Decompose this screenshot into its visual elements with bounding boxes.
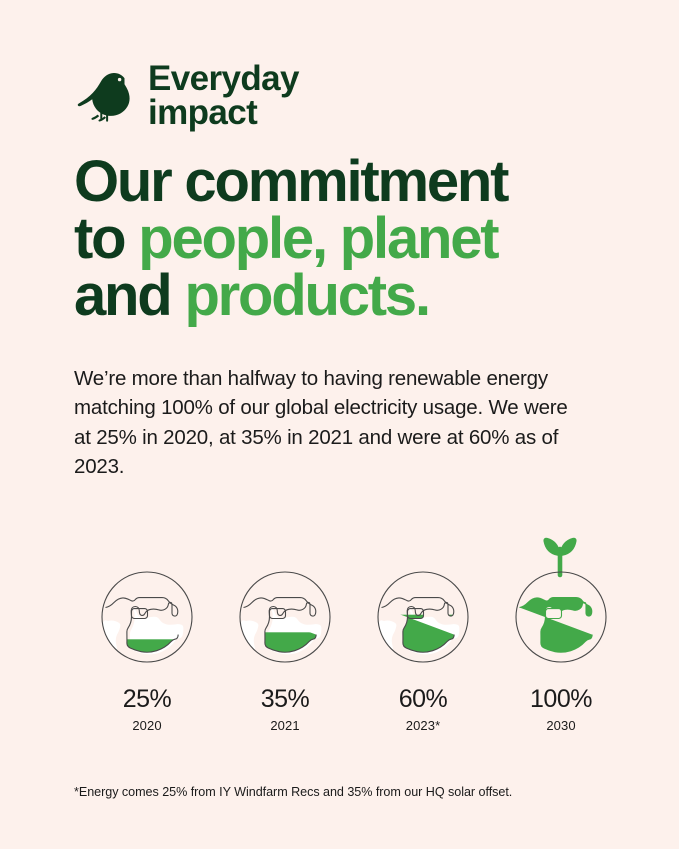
- milestone-item: 100% 2030: [492, 517, 630, 732]
- milestone-item: 60% 2023*: [354, 517, 492, 732]
- milestone-percent: 35%: [261, 687, 310, 712]
- milestone-year: 2021: [270, 719, 299, 732]
- globe-icon: [233, 517, 337, 669]
- globe-icon: [95, 517, 199, 669]
- body-paragraph: We’re more than halfway to having renewa…: [74, 364, 574, 480]
- headline-line2-prefix: to: [74, 206, 138, 271]
- bird-icon: [74, 65, 136, 127]
- milestone-row: 25% 2020: [74, 517, 605, 732]
- milestone-item: 25% 2020: [78, 517, 216, 732]
- milestone-year: 2030: [546, 719, 575, 732]
- page-title: Our commitment to people, planet and pro…: [74, 154, 605, 324]
- milestone-year: 2023*: [406, 719, 440, 732]
- brand-lockup: Everyday impact: [74, 0, 605, 130]
- sprout-icon: [545, 539, 576, 575]
- milestone-percent: 25%: [123, 687, 172, 712]
- headline-line1-text: Our commitment: [74, 149, 507, 214]
- milestone-percent: 100%: [530, 687, 592, 712]
- milestone-year: 2020: [132, 719, 161, 732]
- headline-line3-prefix: and: [74, 263, 184, 328]
- footnote: *Energy comes 25% from IY Windfarm Recs …: [74, 784, 605, 802]
- brand-name-line2: impact: [148, 96, 299, 130]
- globe-sprout-icon: [509, 517, 613, 669]
- headline-line-2: to people, planet: [74, 211, 605, 268]
- headline-line-1: Our commitment: [74, 154, 605, 211]
- headline-line2-accent: people, planet: [138, 206, 497, 271]
- headline-line-3: and products.: [74, 268, 605, 325]
- globe-icon: [371, 517, 475, 669]
- everyday-impact-infographic: Everyday impact Our commitment to people…: [0, 0, 679, 849]
- milestone-item: 35% 2021: [216, 517, 354, 732]
- brand-name-line1: Everyday: [148, 62, 299, 96]
- headline-line3-accent: products.: [184, 263, 428, 328]
- milestone-percent: 60%: [399, 687, 448, 712]
- brand-wordmark: Everyday impact: [148, 62, 299, 130]
